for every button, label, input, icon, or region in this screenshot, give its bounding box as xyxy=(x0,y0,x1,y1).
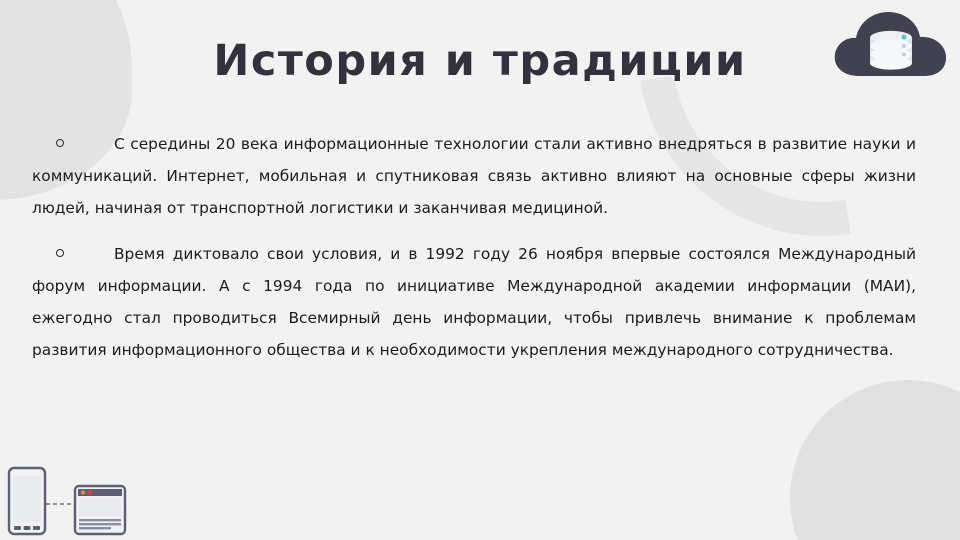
bullet-circle-icon xyxy=(56,249,64,257)
bullet-circle-icon xyxy=(56,139,64,147)
slide-title: История и традиции xyxy=(0,40,960,83)
circle-bottom-right-shape xyxy=(790,380,960,540)
body-paragraph: С середины 20 века информационные технол… xyxy=(32,128,916,224)
phone-browser-devices-icon xyxy=(6,466,128,536)
paragraph-text: Время диктовало свои условия, и в 1992 г… xyxy=(32,245,916,359)
slide-body: С середины 20 века информационные технол… xyxy=(32,128,916,366)
presentation-slide: История и традиции С середины 20 века ин… xyxy=(0,0,960,540)
body-paragraph: Время диктовало свои условия, и в 1992 г… xyxy=(32,238,916,366)
paragraph-text: С середины 20 века информационные технол… xyxy=(32,135,916,217)
